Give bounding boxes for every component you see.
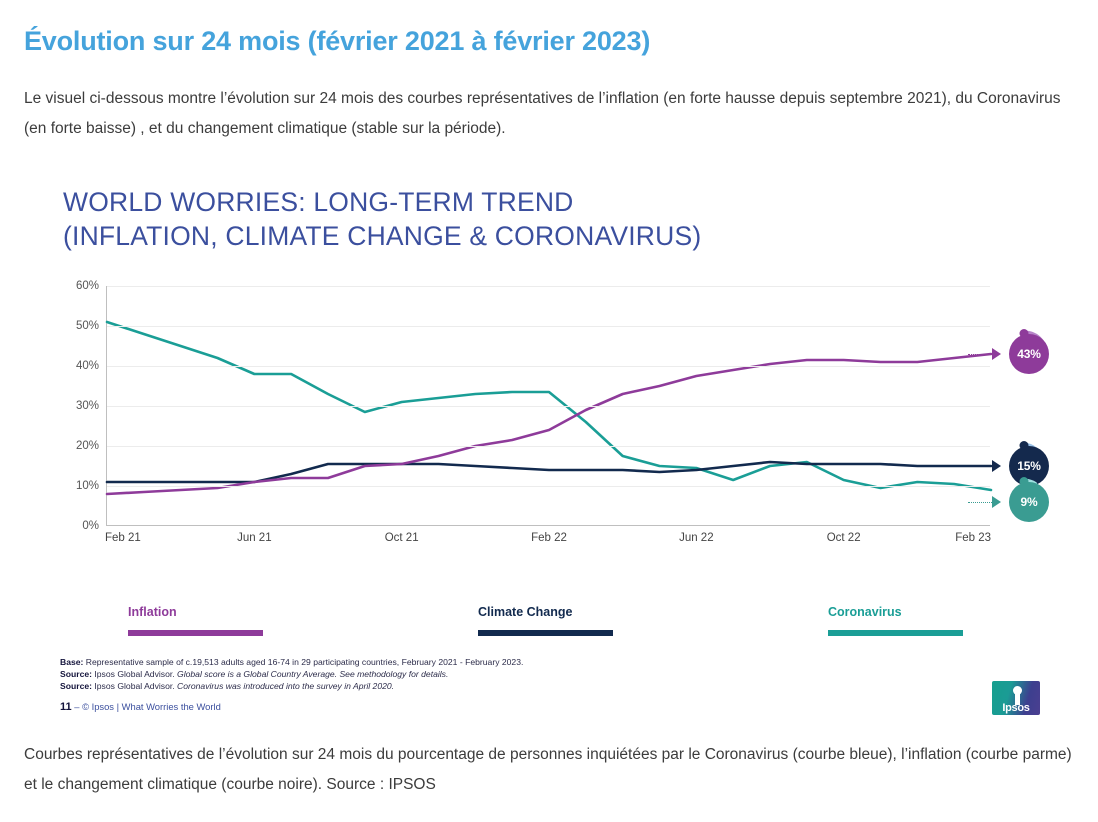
- source-note-text: Representative sample of c.19,513 adults…: [83, 657, 523, 667]
- y-axis-tick-label: 50%: [76, 320, 99, 332]
- legend-color-swatch: [128, 630, 263, 636]
- source-note-label: Source:: [60, 681, 92, 691]
- chart-container: 0%10%20%30%40%50%60%Feb 21Jun 21Oct 21Fe…: [58, 286, 988, 556]
- source-notes: Base: Representative sample of c.19,513 …: [60, 656, 700, 693]
- callout-dotted-leader: [968, 354, 992, 355]
- gridline: [107, 446, 990, 447]
- legend-item-climate-change[interactable]: Climate Change: [478, 605, 613, 636]
- x-axis-tick-label: Jun 22: [679, 532, 714, 544]
- y-axis-tick-label: 10%: [76, 480, 99, 492]
- y-axis-tick-label: 0%: [82, 520, 99, 532]
- endpoint-value-bubble: 9%: [1009, 482, 1049, 522]
- logo-wordmark: Ipsos: [992, 702, 1040, 714]
- y-axis-tick-label: 20%: [76, 440, 99, 452]
- source-note-emphasis: Coronavirus was introduced into the surv…: [177, 681, 394, 691]
- endpoint-value-bubble: 43%: [1009, 334, 1049, 374]
- callout-arrow-icon: [992, 348, 1001, 360]
- y-axis-tick: 20%: [107, 446, 990, 447]
- endpoint-callout-coronavirus: 9%: [990, 482, 1074, 538]
- y-axis-tick: 30%: [107, 406, 990, 407]
- legend-item-inflation[interactable]: Inflation: [128, 605, 263, 636]
- chart-endpoint-callouts: 43%15%9%: [990, 286, 1074, 426]
- y-axis-tick-label: 40%: [76, 360, 99, 372]
- y-axis-tick: 60%: [107, 286, 990, 287]
- page-title: Évolution sur 24 mois (février 2021 à fé…: [24, 26, 650, 57]
- x-axis-tick-label: Jun 21: [237, 532, 272, 544]
- y-axis-tick: 40%: [107, 366, 990, 367]
- legend-item-label: Inflation: [128, 605, 263, 619]
- callout-dotted-leader: [968, 466, 992, 467]
- series-line-climate-change: [107, 462, 991, 482]
- chart-legend: InflationClimate ChangeCoronavirus: [58, 605, 1018, 649]
- slide-footer-dash: –: [74, 701, 79, 712]
- chart-title: WORLD WORRIES: LONG-TERM TREND (INFLATIO…: [63, 185, 701, 253]
- legend-color-swatch: [478, 630, 613, 636]
- slide-footer-credit: © Ipsos | What Worries the World: [82, 701, 221, 712]
- source-note-text: Ipsos Global Advisor.: [92, 669, 177, 679]
- figure-caption: Courbes représentatives de l’évolution s…: [24, 740, 1080, 800]
- series-line-inflation: [107, 354, 991, 494]
- ipsos-slide: WORLD WORRIES: LONG-TERM TREND (INFLATIO…: [24, 168, 1074, 724]
- y-axis-tick-label: 30%: [76, 400, 99, 412]
- x-axis-tick-label: Oct 21: [385, 532, 419, 544]
- callout-arrow-icon: [992, 496, 1001, 508]
- source-note-emphasis: Global score is a Global Country Average…: [177, 669, 448, 679]
- gridline: [107, 366, 990, 367]
- endpoint-callout-inflation: 43%: [990, 334, 1074, 390]
- x-axis-tick-label: Feb 21: [105, 532, 141, 544]
- source-note-line: Source: Ipsos Global Advisor. Coronaviru…: [60, 680, 700, 692]
- callout-arrow-icon: [992, 460, 1001, 472]
- y-axis-tick: 10%: [107, 486, 990, 487]
- x-axis-tick-label: Feb 23: [955, 532, 991, 544]
- y-axis-tick: 50%: [107, 326, 990, 327]
- page-root: Évolution sur 24 mois (février 2021 à fé…: [0, 0, 1098, 822]
- gridline: [107, 286, 990, 287]
- y-axis-tick: 0%: [107, 526, 990, 527]
- slide-page-number: 11: [60, 701, 72, 713]
- y-axis-tick-label: 60%: [76, 280, 99, 292]
- source-note-text: Ipsos Global Advisor.: [92, 681, 177, 691]
- source-note-line: Source: Ipsos Global Advisor. Global sco…: [60, 668, 700, 680]
- source-note-line: Base: Representative sample of c.19,513 …: [60, 656, 700, 668]
- x-axis-tick-label: Feb 22: [531, 532, 567, 544]
- legend-item-label: Coronavirus: [828, 605, 963, 619]
- gridline: [107, 486, 990, 487]
- legend-item-coronavirus[interactable]: Coronavirus: [828, 605, 963, 636]
- slide-footer: 11 – © Ipsos | What Worries the World: [60, 701, 221, 713]
- callout-dotted-leader: [968, 502, 992, 503]
- gridline: [107, 406, 990, 407]
- article-intro-paragraph: Le visuel ci-dessous montre l’évolution …: [24, 84, 1078, 144]
- legend-color-swatch: [828, 630, 963, 636]
- source-note-label: Base:: [60, 657, 83, 667]
- chart-plot-area: 0%10%20%30%40%50%60%Feb 21Jun 21Oct 21Fe…: [106, 286, 990, 526]
- x-axis-tick-label: Oct 22: [827, 532, 861, 544]
- gridline: [107, 326, 990, 327]
- legend-item-label: Climate Change: [478, 605, 613, 619]
- source-note-label: Source:: [60, 669, 92, 679]
- ipsos-logo: Ipsos: [992, 681, 1040, 715]
